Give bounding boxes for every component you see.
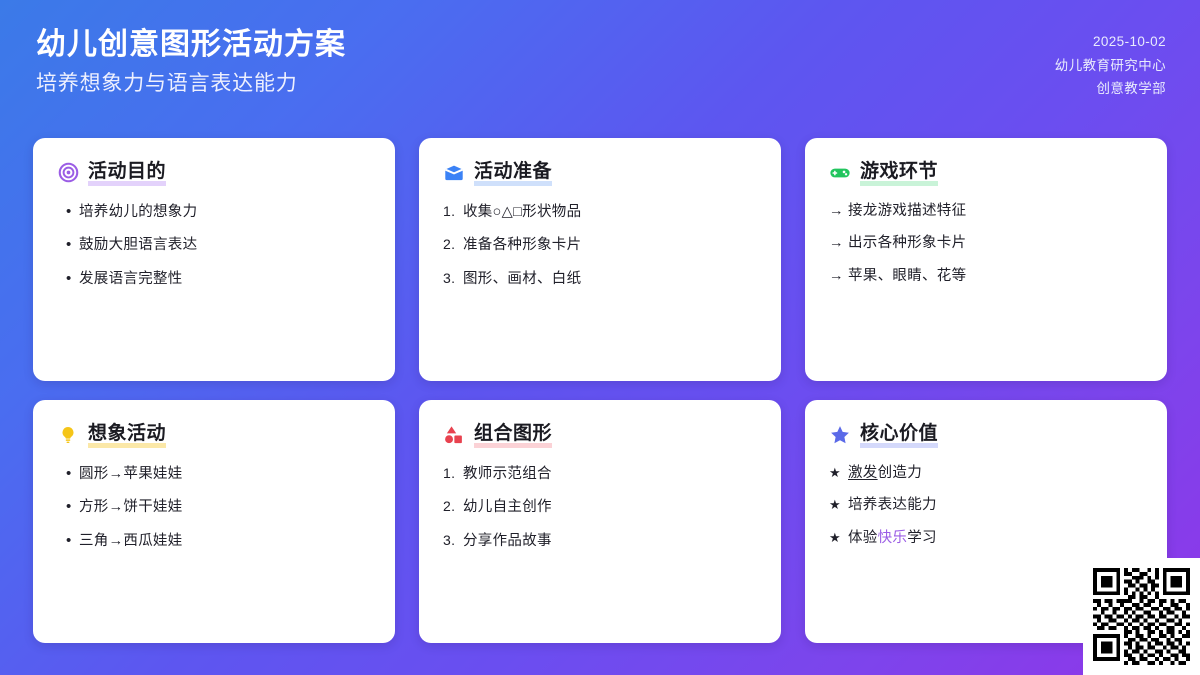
card-activity-purpose: 活动目的•培养幼儿的想象力•鼓励大胆语言表达•发展语言完整性 xyxy=(33,138,395,381)
card-title: 活动准备 xyxy=(474,160,552,186)
text-highlight: 激发 xyxy=(848,465,878,481)
list-marker: 1. xyxy=(443,464,463,483)
list-item-text: 接龙游戏描述特征 xyxy=(848,202,1143,222)
card-combined-shapes: 组合图形1.教师示范组合2.幼儿自主创作3.分享作品故事 xyxy=(419,400,781,643)
slide-root: 幼儿创意图形活动方案 培养想象力与语言表达能力 2025-10-02 幼儿教育研… xyxy=(0,0,1200,675)
qr-panel xyxy=(1083,558,1200,675)
list-marker: → xyxy=(829,267,848,287)
header-left: 幼儿创意图形活动方案 培养想象力与语言表达能力 xyxy=(36,26,346,98)
list-item: •发展语言完整性 xyxy=(57,269,371,290)
card-title: 活动目的 xyxy=(88,160,166,186)
list-marker: ★ xyxy=(829,529,848,547)
list-marker: ★ xyxy=(829,464,848,482)
list-item-text: 圆形→苹果娃娃 xyxy=(79,465,371,485)
list-item-text: 三角→西瓜娃娃 xyxy=(79,532,371,552)
gamepad-icon xyxy=(829,162,851,184)
shapes-icon xyxy=(443,424,465,446)
list-item: •方形→饼干娃娃 xyxy=(57,497,371,518)
list-item: •圆形→苹果娃娃 xyxy=(57,464,371,485)
page-title: 幼儿创意图形活动方案 xyxy=(36,26,346,64)
list-item-text: 准备各种形象卡片 xyxy=(463,236,757,256)
list-item: 1.教师示范组合 xyxy=(443,464,757,485)
card-header: 核心价值 xyxy=(829,422,1143,448)
list-item-text: 体验快乐学习 xyxy=(848,529,1143,549)
list-item-text: 方形→饼干娃娃 xyxy=(79,498,371,518)
list-item: ★体验快乐学习 xyxy=(829,529,1143,549)
card-header: 游戏环节 xyxy=(829,160,1143,186)
header-meta: 2025-10-02 幼儿教育研究中心 创意教学部 xyxy=(1055,26,1166,101)
header-department: 创意教学部 xyxy=(1097,77,1167,101)
list-marker: • xyxy=(57,531,79,551)
list-item-text: 培养表达能力 xyxy=(848,496,1143,516)
qr-code[interactable] xyxy=(1093,568,1190,665)
card-header: 组合图形 xyxy=(443,422,757,448)
list-marker: • xyxy=(57,497,79,517)
package-icon xyxy=(443,162,465,184)
list-item-text: 培养幼儿的想象力 xyxy=(79,203,371,223)
list-marker: ★ xyxy=(829,496,848,514)
list-item: →苹果、眼睛、花等 xyxy=(829,267,1143,287)
list-marker: → xyxy=(829,234,848,254)
card-imagination-activity: 想象活动•圆形→苹果娃娃•方形→饼干娃娃•三角→西瓜娃娃 xyxy=(33,400,395,643)
list-item: →接龙游戏描述特征 xyxy=(829,202,1143,222)
list-marker: • xyxy=(57,235,79,255)
list-marker: • xyxy=(57,464,79,484)
list-marker: 3. xyxy=(443,269,463,288)
card-header: 活动目的 xyxy=(57,160,371,186)
list-item: 3.图形、画材、白纸 xyxy=(443,269,757,290)
slide-header: 幼儿创意图形活动方案 培养想象力与语言表达能力 2025-10-02 幼儿教育研… xyxy=(0,0,1200,130)
list-item-text: 鼓励大胆语言表达 xyxy=(79,236,371,256)
list-item: →出示各种形象卡片 xyxy=(829,234,1143,254)
card-header: 想象活动 xyxy=(57,422,371,448)
list-item: •鼓励大胆语言表达 xyxy=(57,235,371,256)
card-activity-preparation: 活动准备1.收集○△□形状物品2.准备各种形象卡片3.图形、画材、白纸 xyxy=(419,138,781,381)
text-plain: 体验 xyxy=(848,530,878,546)
list-item: ★激发创造力 xyxy=(829,464,1143,484)
list-item-text: 幼儿自主创作 xyxy=(463,498,757,518)
list-item: 1.收集○△□形状物品 xyxy=(443,202,757,223)
list-item: 3.分享作品故事 xyxy=(443,531,757,552)
card-body: 1.收集○△□形状物品2.准备各种形象卡片3.图形、画材、白纸 xyxy=(443,202,757,290)
text-highlight: 快乐 xyxy=(878,530,908,546)
card-body: •培养幼儿的想象力•鼓励大胆语言表达•发展语言完整性 xyxy=(57,202,371,290)
target-icon xyxy=(57,162,79,184)
star-icon xyxy=(829,424,851,446)
list-item-text: 收集○△□形状物品 xyxy=(463,203,757,223)
list-item: •培养幼儿的想象力 xyxy=(57,202,371,223)
card-body: 1.教师示范组合2.幼儿自主创作3.分享作品故事 xyxy=(443,464,757,552)
list-item-text: 苹果、眼睛、花等 xyxy=(848,267,1143,287)
list-item: ★培养表达能力 xyxy=(829,496,1143,516)
card-game-session: 游戏环节→接龙游戏描述特征→出示各种形象卡片→苹果、眼睛、花等 xyxy=(805,138,1167,381)
card-grid: 活动目的•培养幼儿的想象力•鼓励大胆语言表达•发展语言完整性 活动准备1.收集○… xyxy=(33,138,1167,643)
list-item-text: 分享作品故事 xyxy=(463,532,757,552)
card-title: 游戏环节 xyxy=(860,160,938,186)
list-marker: • xyxy=(57,269,79,289)
card-body: →接龙游戏描述特征→出示各种形象卡片→苹果、眼睛、花等 xyxy=(829,202,1143,287)
page-subtitle: 培养想象力与语言表达能力 xyxy=(36,70,346,98)
list-item-text: 图形、画材、白纸 xyxy=(463,270,757,290)
list-marker: 2. xyxy=(443,497,463,516)
card-title: 组合图形 xyxy=(474,422,552,448)
list-item: •三角→西瓜娃娃 xyxy=(57,531,371,552)
list-item-text: 教师示范组合 xyxy=(463,465,757,485)
list-marker: 2. xyxy=(443,235,463,254)
list-item-text: 发展语言完整性 xyxy=(79,270,371,290)
list-marker: → xyxy=(829,202,848,222)
list-marker: 3. xyxy=(443,531,463,550)
card-title: 核心价值 xyxy=(860,422,938,448)
list-item-text: 出示各种形象卡片 xyxy=(848,234,1143,254)
card-header: 活动准备 xyxy=(443,160,757,186)
text-plain: 学习 xyxy=(907,530,937,546)
lightbulb-icon xyxy=(57,424,79,446)
list-item: 2.幼儿自主创作 xyxy=(443,497,757,518)
text-plain: 创造力 xyxy=(878,465,922,481)
card-body: ★激发创造力★培养表达能力★体验快乐学习 xyxy=(829,464,1143,549)
list-item: 2.准备各种形象卡片 xyxy=(443,235,757,256)
card-body: •圆形→苹果娃娃•方形→饼干娃娃•三角→西瓜娃娃 xyxy=(57,464,371,552)
list-item-text: 激发创造力 xyxy=(848,464,1143,484)
header-date: 2025-10-02 xyxy=(1093,30,1166,54)
card-title: 想象活动 xyxy=(88,422,166,448)
list-marker: 1. xyxy=(443,202,463,221)
list-marker: • xyxy=(57,202,79,222)
header-organization: 幼儿教育研究中心 xyxy=(1055,54,1166,78)
